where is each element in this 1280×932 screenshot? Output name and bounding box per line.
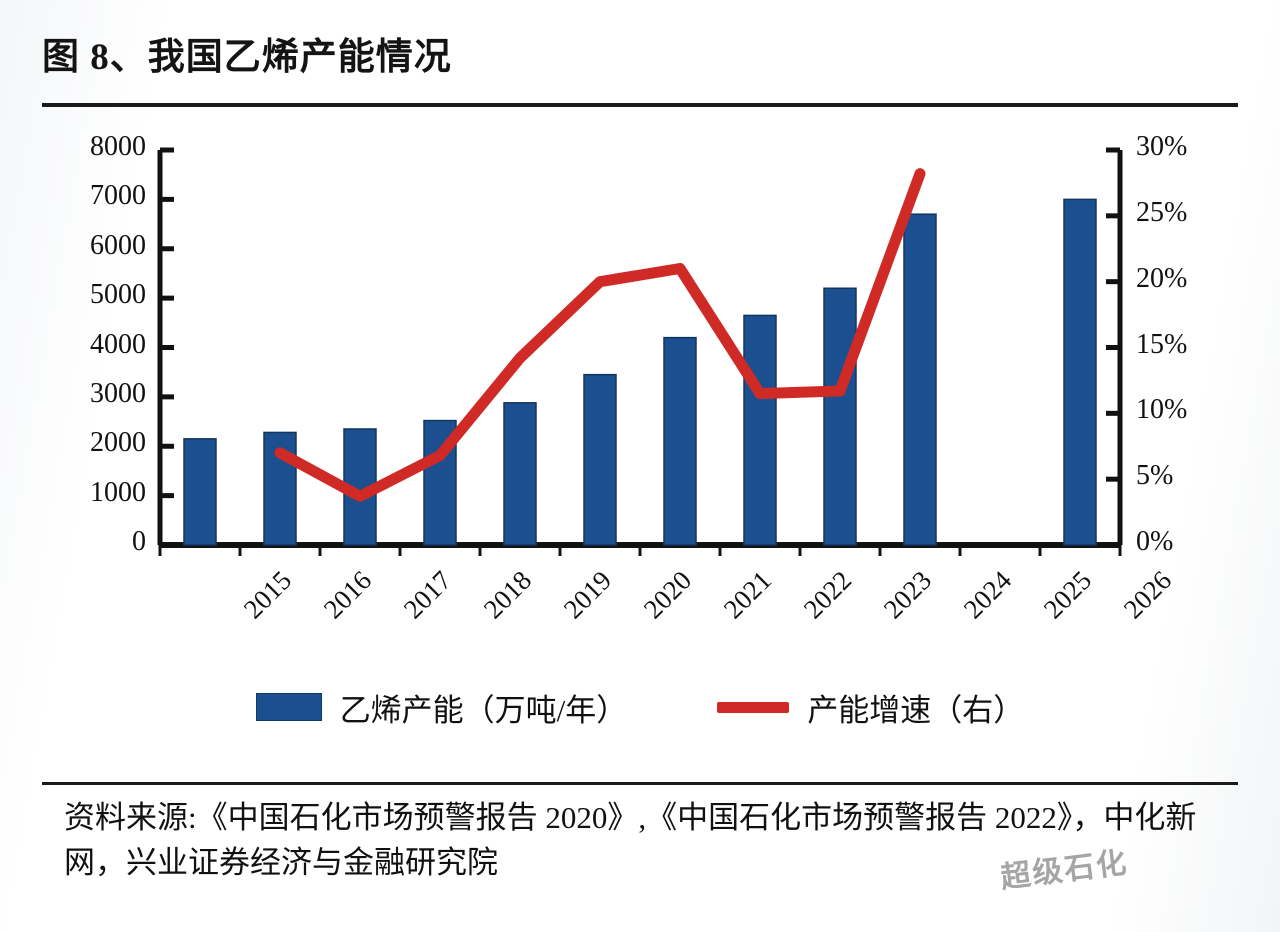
bar-swatch-icon [256, 693, 322, 721]
legend-label-line: 产能增速（右） [807, 685, 1024, 730]
right-axis-tick-10: 10% [1136, 394, 1246, 426]
chart-legend: 乙烯产能（万吨/年） 产能增速（右） [42, 672, 1238, 742]
right-axis-tick-25: 25% [1136, 197, 1246, 229]
left-axis-tick-5000: 5000 [34, 279, 146, 311]
left-axis-tick-2000: 2000 [34, 427, 146, 459]
legend-item-bars[interactable]: 乙烯产能（万吨/年） [256, 685, 628, 730]
right-axis-tick-0: 0% [1136, 526, 1246, 558]
left-axis-tick-4000: 4000 [34, 329, 146, 361]
watermark-badge-icon [1042, 852, 1084, 894]
left-axis-tick-6000: 6000 [34, 230, 146, 262]
page-title: 图 8、我国乙烯产能情况 [42, 26, 1238, 80]
right-axis-tick-5: 5% [1136, 460, 1246, 492]
left-axis-tick-1000: 1000 [34, 477, 146, 509]
left-axis-tick-7000: 7000 [34, 180, 146, 212]
legend-label-bars: 乙烯产能（万吨/年） [340, 685, 628, 730]
right-axis-tick-15: 15% [1136, 329, 1246, 361]
right-axis-tick-20: 20% [1136, 263, 1246, 295]
source-divider [42, 782, 1238, 785]
line-swatch-icon [717, 702, 789, 713]
left-axis-tick-8000: 8000 [34, 131, 146, 163]
left-axis-tick-3000: 3000 [34, 378, 146, 410]
legend-item-line[interactable]: 产能增速（右） [717, 685, 1024, 730]
figure-title-bar: 图 8、我国乙烯产能情况 [42, 26, 1238, 98]
right-axis-tick-30: 30% [1136, 131, 1246, 163]
figure-page: 图 8、我国乙烯产能情况 010002000300040005000600070… [0, 0, 1280, 932]
title-divider [42, 103, 1238, 107]
left-axis-tick-0: 0 [34, 526, 146, 558]
